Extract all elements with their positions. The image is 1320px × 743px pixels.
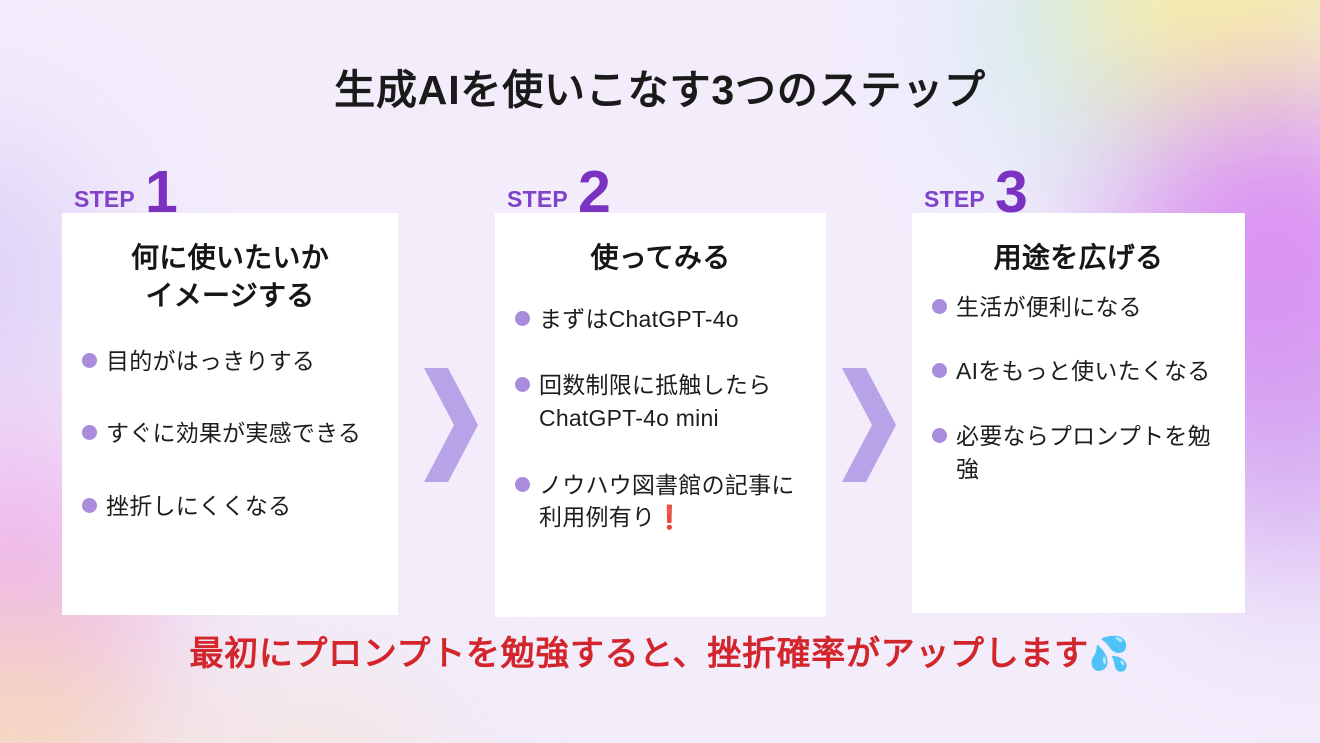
bullet-text: 必要ならプロンプトを勉強 [956,420,1225,485]
bullet-dot-icon [932,363,947,378]
bullet-dot-icon [82,498,97,513]
step-column-1: STEP 1 何に使いたいか イメージする 目的がはっきりする すぐに効果が実感… [62,168,398,615]
step-label-2: STEP [507,188,568,211]
step-card-1: 何に使いたいか イメージする 目的がはっきりする すぐに効果が実感できる 挫折し… [62,213,398,615]
step-header-2: STEP 2 [495,168,826,213]
list-item: 生活が便利になる [932,291,1225,324]
page-title: 生成AIを使いこなす3つのステップ [0,56,1320,116]
bullet-text: 生活が便利になる [956,291,1225,324]
step-number-3: 3 [995,171,1027,213]
step-label-1: STEP [74,188,135,211]
chevron-right-icon [420,366,482,484]
list-item: すぐに効果が実感できる [82,417,378,450]
step-bullet-list-1: 目的がはっきりする すぐに効果が実感できる 挫折しにくくなる [82,345,378,523]
bullet-dot-icon [515,477,530,492]
step-card-title-2: 使ってみる [515,239,806,277]
list-item: 必要ならプロンプトを勉強 [932,420,1225,485]
bottom-caption: 最初にプロンプトを勉強すると、挫折確率がアップします💦 [0,626,1320,675]
step-number-1: 1 [145,171,177,213]
step-header-3: STEP 3 [912,168,1245,213]
bullet-dot-icon [932,428,947,443]
step-header-1: STEP 1 [62,168,398,213]
bullet-dot-icon [515,377,530,392]
step-card-3: 用途を広げる 生活が便利になる AIをもっと使いたくなる 必要ならプロンプトを勉… [912,213,1245,613]
step-card-title-line-1: 用途を広げる [932,239,1225,277]
step-bullet-list-3: 生活が便利になる AIをもっと使いたくなる 必要ならプロンプトを勉強 [932,291,1225,486]
slide-canvas: 生成AIを使いこなす3つのステップ STEP 1 何に使いたいか イメージする … [0,0,1320,743]
step-card-title-3: 用途を広げる [932,239,1225,277]
step-column-3: STEP 3 用途を広げる 生活が便利になる AIをもっと使いたくなる 必要なら… [912,168,1245,613]
bullet-text: 目的がはっきりする [106,345,378,378]
bullet-text: 回数制限に抵触したらChatGPT-4o mini [539,369,806,434]
step-card-title-line-1: 使ってみる [515,239,806,277]
sweat-droplets-icon: 💦 [1089,635,1131,672]
step-card-title-1: 何に使いたいか イメージする [82,239,378,315]
list-item: 目的がはっきりする [82,345,378,378]
list-item: 回数制限に抵触したらChatGPT-4o mini [515,369,806,434]
list-item: 挫折しにくくなる [82,490,378,523]
list-item: ノウハウ図書館の記事に利用例有り❗ [515,469,806,534]
bullet-dot-icon [515,311,530,326]
background-blob-peach-bottom [150,693,450,743]
exclamation-mark-icon: ❗ [655,504,684,530]
bullet-text: すぐに効果が実感できる [106,417,378,450]
bullet-dot-icon [932,299,947,314]
bullet-dot-icon [82,353,97,368]
bullet-text: AIをもっと使いたくなる [956,355,1225,388]
bullet-text: 挫折しにくくなる [106,490,378,523]
bottom-caption-text: 最初にプロンプトを勉強すると、挫折確率がアップします [189,635,1088,673]
step-label-3: STEP [924,188,985,211]
list-item: AIをもっと使いたくなる [932,355,1225,388]
step-card-title-line-2: イメージする [82,277,378,315]
bullet-text-with-mark: ノウハウ図書館の記事に利用例有り❗ [539,469,806,534]
step-card-2: 使ってみる まずはChatGPT-4o 回数制限に抵触したらChatGPT-4o… [495,213,826,617]
bullet-dot-icon [82,425,97,440]
step-number-2: 2 [578,171,610,213]
step-column-2: STEP 2 使ってみる まずはChatGPT-4o 回数制限に抵触したらCha… [495,168,826,617]
bullet-text: まずはChatGPT-4o [539,303,806,336]
list-item: まずはChatGPT-4o [515,303,806,336]
step-bullet-list-2: まずはChatGPT-4o 回数制限に抵触したらChatGPT-4o mini … [515,303,806,534]
chevron-right-icon [838,366,900,484]
step-card-title-line-1: 何に使いたいか [82,239,378,277]
